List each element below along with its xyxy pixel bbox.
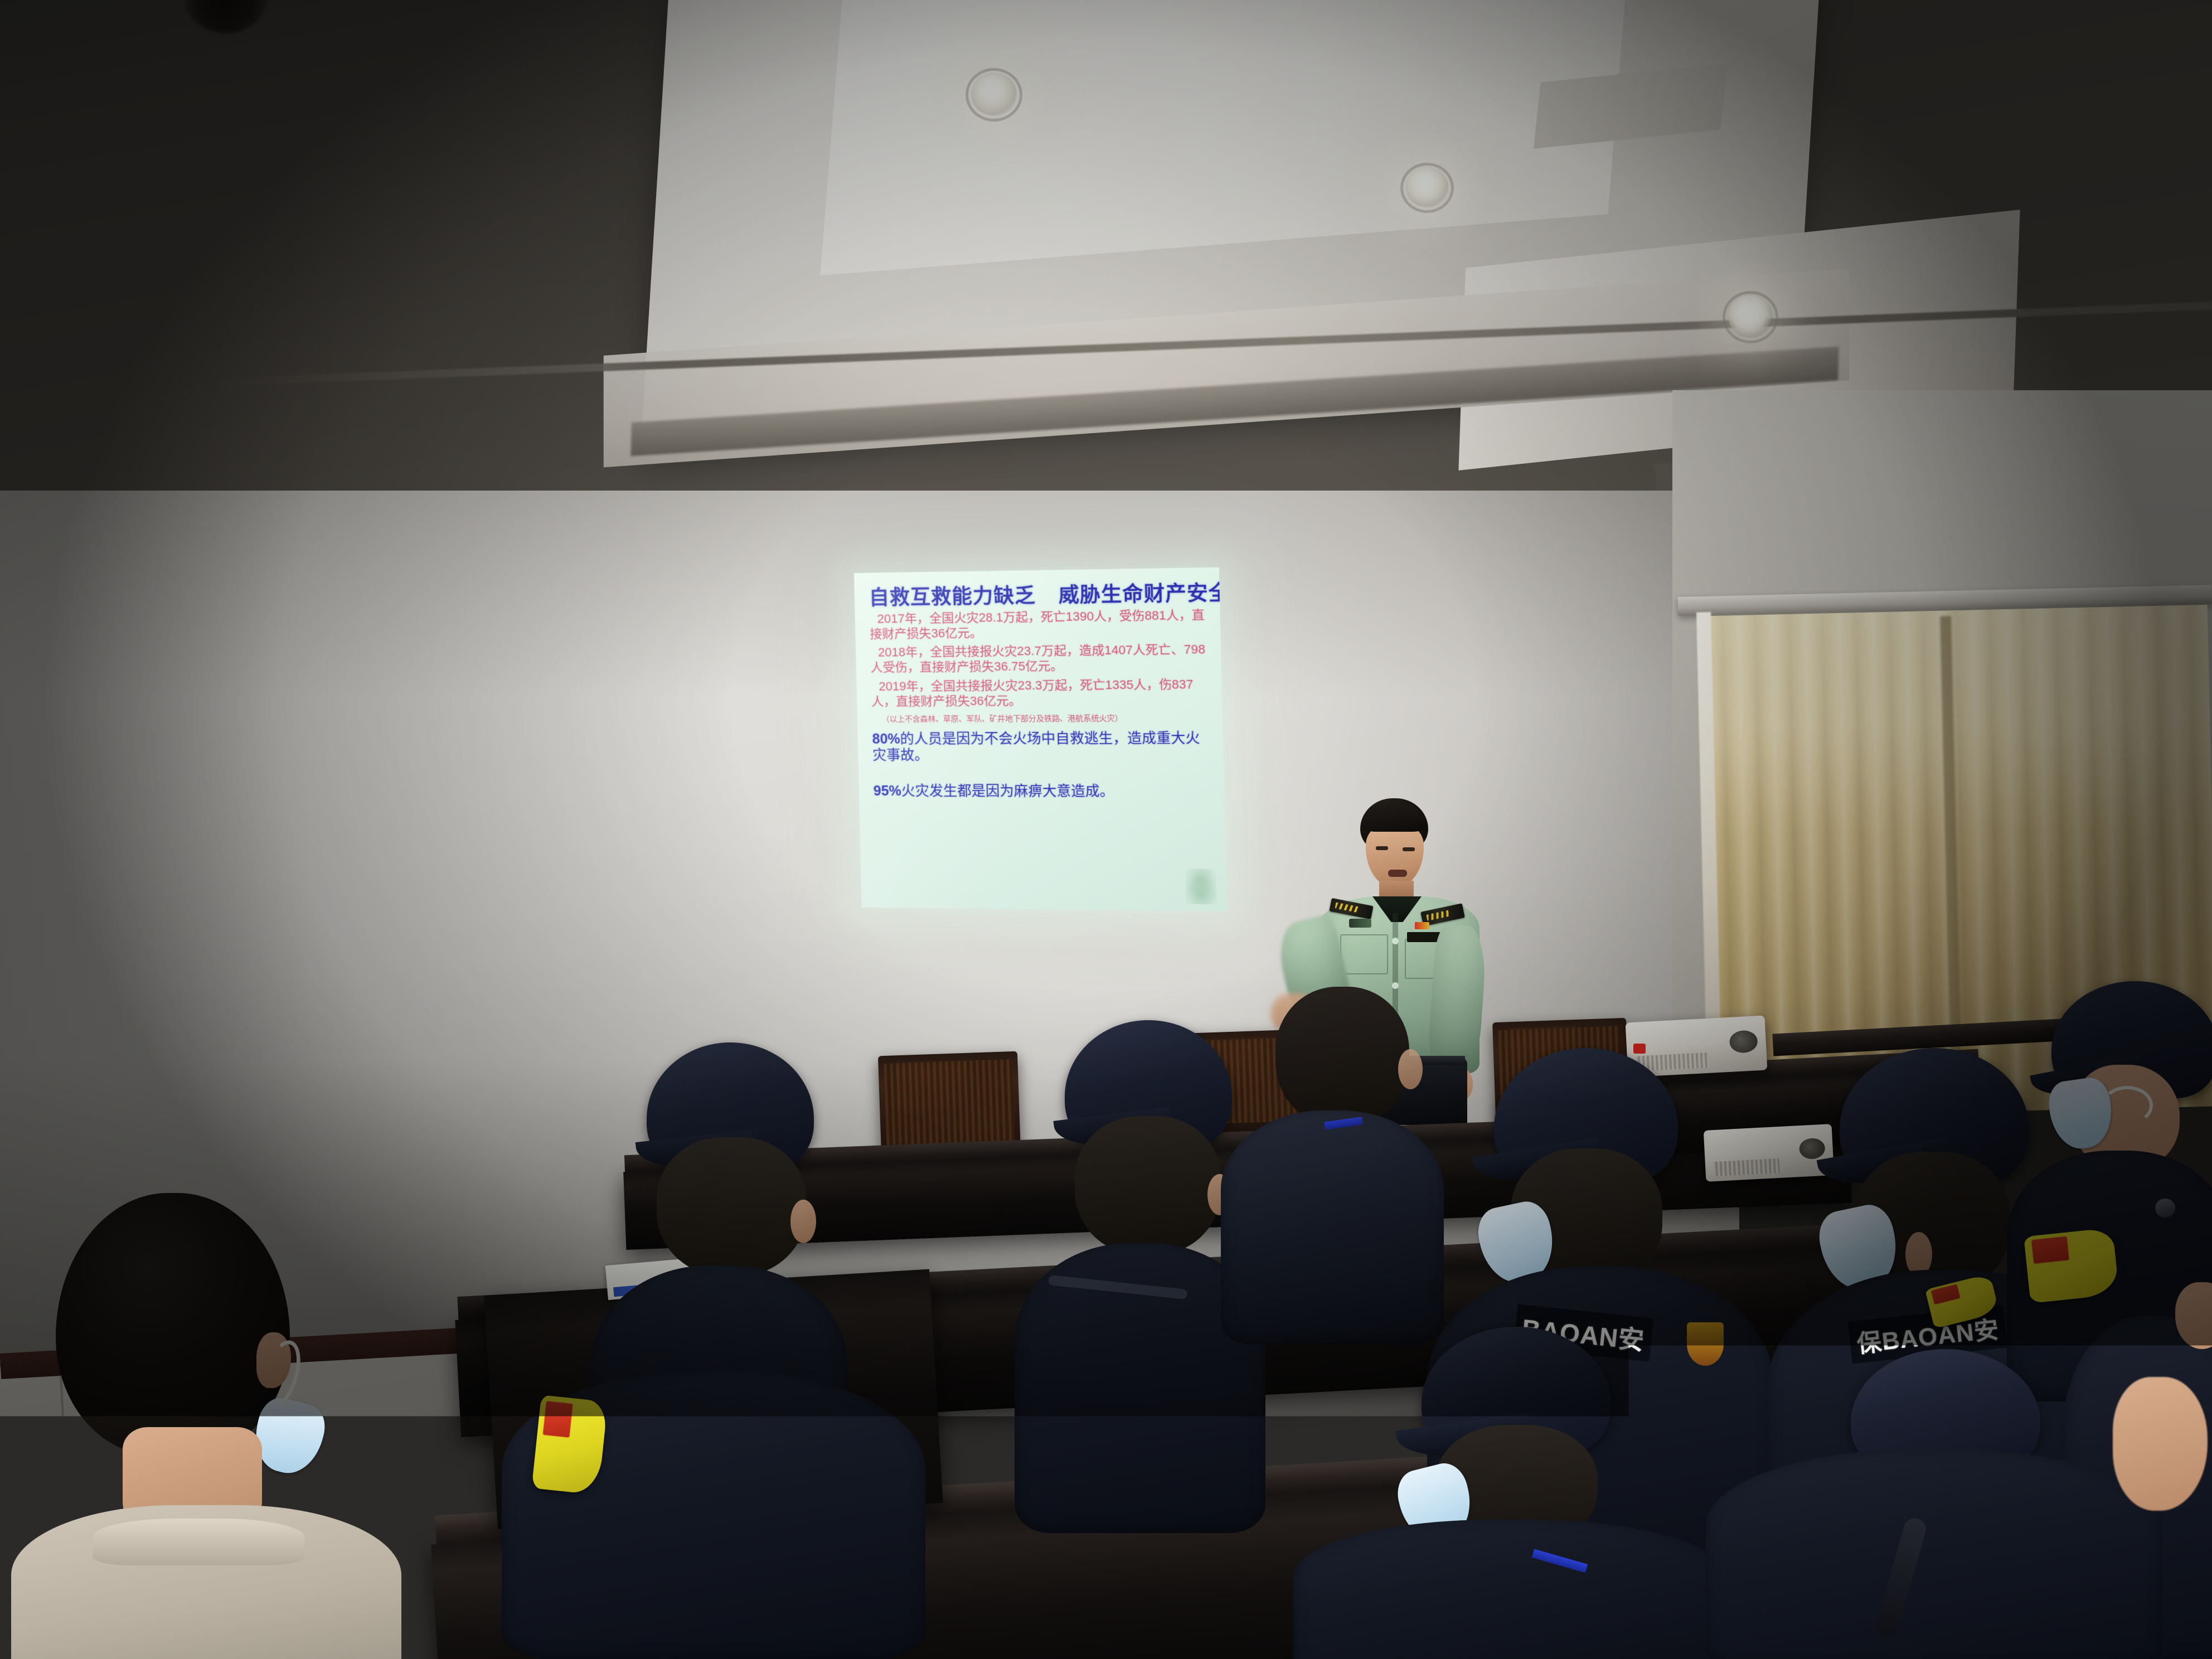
- slide-paragraph: 2018年，全国共接报火灾23.7万起，造成1407人死亡、798人受伤，直接财…: [870, 642, 1209, 676]
- presenter-face: [1366, 823, 1424, 887]
- guard-head-back: [1075, 1116, 1221, 1255]
- slide-highlight-1-text: 的人员是因为不会火场中自救逃生，造成重大火灾事故。: [872, 730, 1200, 763]
- presenter-collar-badge: [1349, 919, 1371, 928]
- armband-red-text: [542, 1401, 573, 1437]
- guard-head: [1275, 987, 1409, 1126]
- slide-highlight-1-pct: 80%: [872, 731, 900, 746]
- slide-paragraph: 2019年，全国共接报火灾23.3万起，死亡1335人，伤837人，直接财产损失…: [871, 677, 1209, 709]
- presenter-eye-right: [1403, 847, 1415, 851]
- slide-body: 2017年，全国火灾28.1万起，死亡1390人，受伤881人，直接财产损失36…: [869, 608, 1209, 710]
- guard-torso: [1221, 1110, 1444, 1345]
- projection-screen-slide: 自救互救能力缺乏威胁生命财产安全 2017年，全国火灾28.1万起，死亡1390…: [854, 567, 1227, 911]
- presenter-flag-pin: [1415, 922, 1429, 929]
- slide-highlight-2-pct: 95%: [873, 783, 901, 799]
- photo-scene: 自救互救能力缺乏威胁生命财产安全 2017年，全国火灾28.1万起，死亡1390…: [0, 0, 2212, 1659]
- audience-head: [56, 1193, 290, 1455]
- guard-head-back: [657, 1137, 806, 1277]
- slide-highlight-2-text: 火灾发生都是因为麻痹大意造成。: [901, 783, 1114, 799]
- slide-title-right: 威胁生命财产安全: [1058, 581, 1226, 607]
- presenter-mouth: [1388, 870, 1407, 877]
- foreground-shadow: [0, 1438, 2212, 1659]
- armband-red-text: [2031, 1236, 2069, 1264]
- slide-title-left: 自救互救能力缺乏: [869, 584, 1036, 609]
- presenter-chest-pocket-left: [1340, 934, 1388, 974]
- recessed-downlight-ring: [966, 68, 1022, 122]
- mask-ear-strap: [2102, 1086, 2153, 1125]
- slide-title: 自救互救能力缺乏威胁生命财产安全: [869, 583, 1207, 609]
- armband-red-text: [1930, 1284, 1960, 1305]
- slide-highlight-2: 95%火灾发生都是因为麻痹大意造成。: [873, 783, 1211, 801]
- presenter-eye-left: [1376, 846, 1388, 850]
- chair-slats: [884, 1059, 1015, 1147]
- slide-watermark-logo: [1185, 869, 1217, 904]
- slide-paragraph: 2017年，全国火灾28.1万起，死亡1390人，受伤881人，直接财产损失36…: [869, 608, 1207, 642]
- recessed-downlight-ring: [1400, 163, 1454, 213]
- recessed-downlight-ring: [1723, 291, 1778, 343]
- guard-ear: [790, 1200, 816, 1243]
- guard-shoulder-button: [2155, 1199, 2175, 1217]
- guard-ear: [1398, 1049, 1423, 1089]
- audience-guard-back-left: [1221, 987, 1444, 1377]
- slide-footnote: （以上不含森林、草原、军队、矿井地下部分及铁路、港航系统火灾）: [882, 712, 1210, 725]
- slide-highlight-1: 80%的人员是因为不会火场中自救逃生，造成重大火灾事故。: [872, 730, 1210, 764]
- ceiling-camera-dome: [184, 0, 268, 33]
- presenter-shirt-button: [1392, 938, 1399, 944]
